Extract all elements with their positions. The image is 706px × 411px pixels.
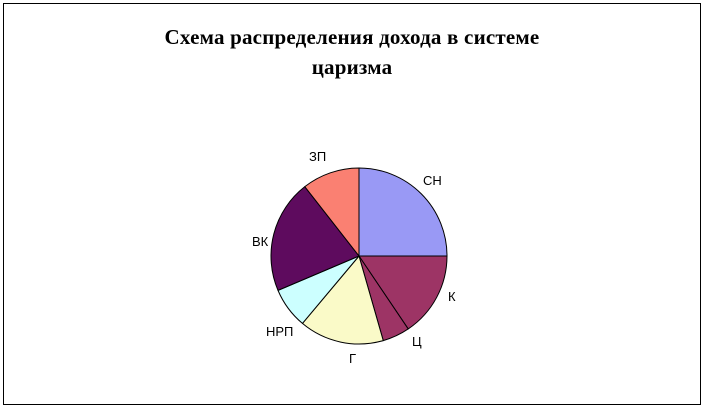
pie-label-К: К bbox=[448, 290, 456, 303]
pie-slice-group bbox=[271, 168, 447, 344]
pie-label-ЗП: ЗП bbox=[309, 150, 326, 163]
pie-label-СН: СН bbox=[423, 174, 442, 187]
chart-frame: Схема распределения дохода в системе цар… bbox=[3, 3, 701, 405]
pie-label-Ц: Ц bbox=[412, 335, 422, 348]
pie-label-Г: Г bbox=[349, 352, 356, 365]
pie-plot-area: СНКЦГНРПВКЗП bbox=[4, 4, 706, 411]
chart-screenshot: Схема распределения дохода в системе цар… bbox=[0, 0, 706, 411]
pie-label-ВК: ВК bbox=[252, 235, 268, 248]
pie-label-НРП: НРП bbox=[266, 325, 293, 338]
pie-chart bbox=[4, 4, 706, 411]
